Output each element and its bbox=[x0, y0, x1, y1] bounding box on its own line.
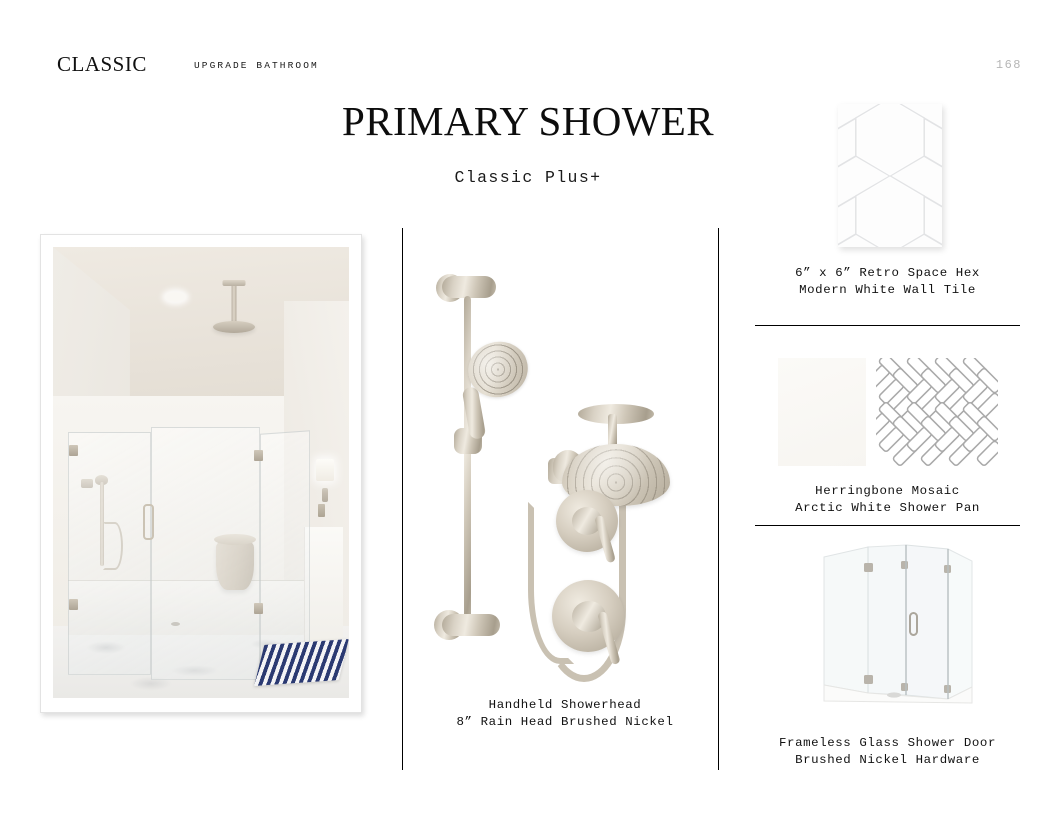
glass-panel-right bbox=[260, 430, 310, 673]
frameless-shower-door-swatch bbox=[806, 535, 986, 707]
middle-caption-line-2: 8” Rain Head Brushed Nickel bbox=[420, 714, 710, 731]
right-caption-1-line-1: 6” x 6” Retro Space Hex bbox=[755, 265, 1020, 282]
glass-panel-door bbox=[151, 427, 261, 680]
herringbone-pattern-icon bbox=[876, 358, 998, 466]
hex-tile-swatch bbox=[838, 104, 942, 247]
glass-panel-left bbox=[68, 432, 151, 676]
right-caption-3: Frameless Glass Shower Door Brushed Nick… bbox=[755, 735, 1020, 769]
right-caption-2: Herringbone Mosaic Arctic White Shower P… bbox=[755, 483, 1020, 517]
shower-room-photo bbox=[53, 247, 349, 698]
striped-bath-mat bbox=[254, 639, 348, 685]
divider-left-vertical bbox=[402, 228, 403, 770]
slide-bar-top-bracket bbox=[442, 276, 496, 298]
glass-clip-bottom-left bbox=[69, 599, 78, 610]
arctic-white-pan-swatch bbox=[778, 358, 866, 466]
shower-fixtures-group bbox=[420, 262, 710, 682]
glass-clip-top-left bbox=[69, 445, 78, 456]
right-caption-3-line-2: Brushed Nickel Hardware bbox=[755, 752, 1020, 769]
ceiling-rain-arm bbox=[231, 285, 236, 323]
right-caption-3-line-1: Frameless Glass Shower Door bbox=[755, 735, 1020, 752]
brand-wordmark: CLASSIC bbox=[57, 52, 147, 77]
glass-clip-top-right bbox=[254, 450, 263, 461]
shower-door-handle bbox=[143, 504, 154, 540]
frameless-glass-enclosure-icon bbox=[806, 535, 986, 707]
divider-right-horizontal-1 bbox=[755, 325, 1020, 326]
divider-right-horizontal-2 bbox=[755, 525, 1020, 526]
middle-caption: Handheld Showerhead 8” Rain Head Brushed… bbox=[420, 697, 710, 731]
slide-bar-bottom-bracket bbox=[442, 614, 500, 636]
right-caption-1: 6” x 6” Retro Space Hex Modern White Wal… bbox=[755, 265, 1020, 299]
hex-tile-pattern-icon bbox=[838, 104, 942, 247]
right-caption-1-line-2: Modern White Wall Tile bbox=[755, 282, 1020, 299]
right-caption-2-line-1: Herringbone Mosaic bbox=[755, 483, 1020, 500]
right-caption-2-line-2: Arctic White Shower Pan bbox=[755, 500, 1020, 517]
ceiling-rain-head bbox=[213, 321, 255, 333]
section-label: UPGRADE BATHROOM bbox=[194, 60, 319, 71]
wall-sconce bbox=[316, 459, 334, 481]
middle-caption-line-1: Handheld Showerhead bbox=[420, 697, 710, 714]
page-number: 168 bbox=[996, 58, 1022, 72]
slide-bar bbox=[464, 296, 471, 634]
sconce-arm bbox=[318, 504, 325, 517]
herringbone-mosaic-swatch bbox=[876, 358, 998, 466]
glass-clip-bottom-right bbox=[254, 603, 263, 614]
divider-right-vertical bbox=[718, 228, 719, 770]
shower-room-photo-frame bbox=[40, 234, 362, 713]
soap-bottle bbox=[322, 488, 328, 502]
